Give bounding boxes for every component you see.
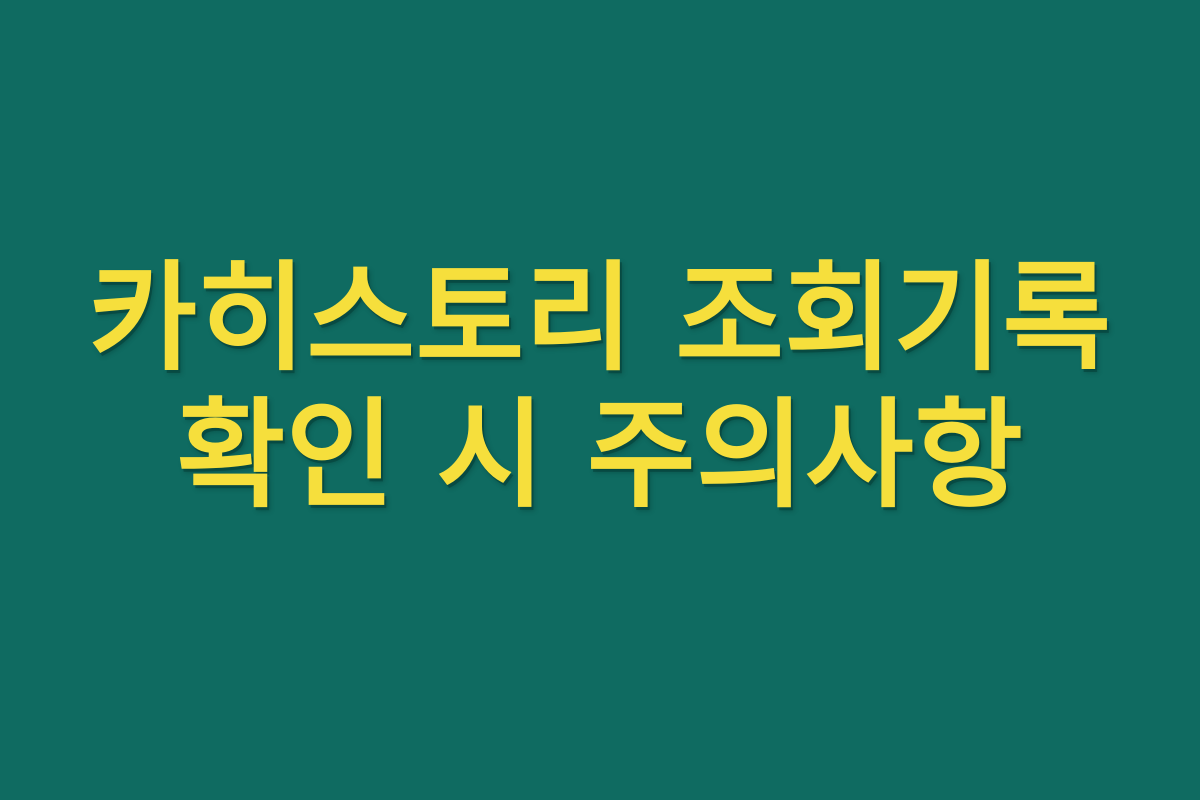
headline-title: 카히스토리 조회기록 확인 시 주의사항 [85,250,1115,524]
thumbnail-card: 카히스토리 조회기록 확인 시 주의사항 [0,0,1200,800]
headline-block: 카히스토리 조회기록 확인 시 주의사항 [85,250,1115,550]
